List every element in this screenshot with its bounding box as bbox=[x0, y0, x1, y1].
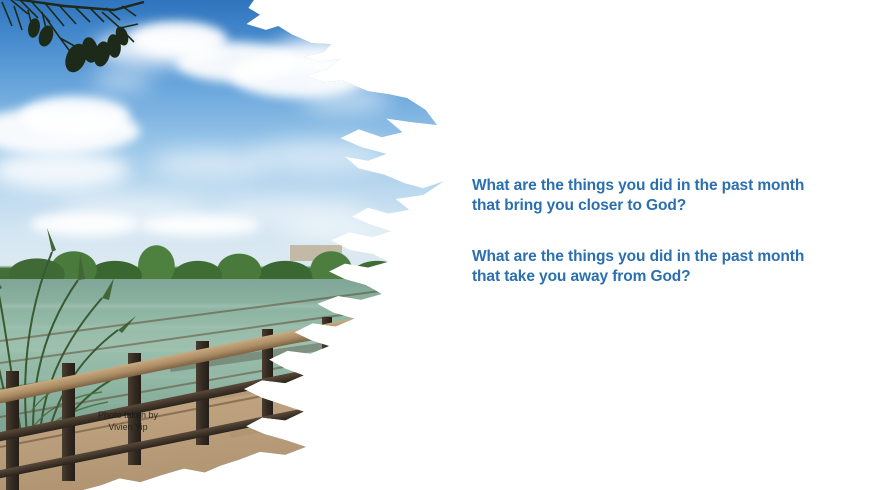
photo-panel: Photo taken by Vivien Yip bbox=[0, 0, 460, 490]
rail-post bbox=[378, 307, 387, 381]
boardwalk bbox=[0, 275, 460, 490]
slide: Photo taken by Vivien Yip What are the t… bbox=[0, 0, 876, 490]
rail-post bbox=[428, 299, 436, 363]
text-panel: What are the things you did in the past … bbox=[472, 160, 832, 302]
cloud bbox=[268, 36, 378, 74]
question-away-from-god: What are the things you did in the past … bbox=[472, 247, 832, 287]
rail-post bbox=[322, 317, 332, 401]
deck-plank-line bbox=[0, 279, 460, 342]
lake-boardwalk-photo: Photo taken by Vivien Yip bbox=[0, 0, 460, 490]
cloud bbox=[92, 70, 152, 90]
cloud bbox=[20, 96, 130, 136]
question-closer-to-god: What are the things you did in the past … bbox=[472, 176, 832, 216]
cloud bbox=[250, 140, 390, 172]
photo-credit: Photo taken by Vivien Yip bbox=[88, 409, 168, 433]
cloud bbox=[300, 86, 390, 112]
